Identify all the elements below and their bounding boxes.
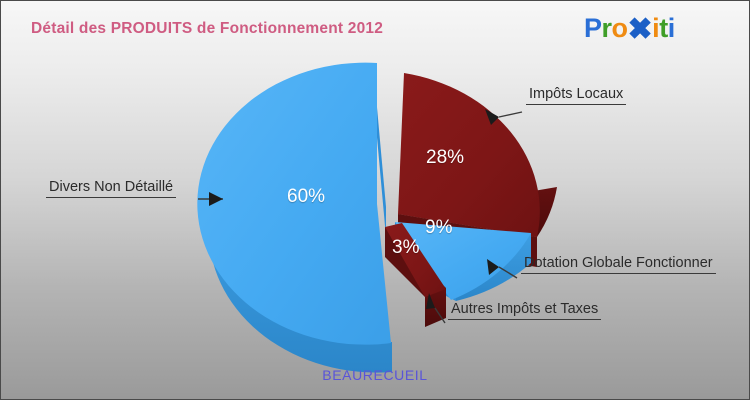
city-name-label: BEAURECUEIL xyxy=(1,367,749,383)
slice-value-autres-impots-et-taxes: 3% xyxy=(392,237,419,259)
slice-value-dotation-globale: 9% xyxy=(425,217,452,239)
callout-label-autres-impots-et-taxes[interactable]: Autres Impôts et Taxes xyxy=(448,301,601,320)
slice-value-impots-locaux: 28% xyxy=(426,147,464,169)
callout-label-impots-locaux[interactable]: Impôts Locaux xyxy=(526,86,626,105)
chart-window: Détail des PRODUITS de Fonctionnement 20… xyxy=(0,0,750,400)
pie-chart xyxy=(1,1,750,400)
callout-text-impots-locaux: Impôts Locaux xyxy=(526,86,626,105)
slice-value-divers-non-detaille: 60% xyxy=(287,186,325,208)
callout-label-divers-non-detaille[interactable]: Divers Non Détaillé xyxy=(46,179,176,198)
pie-slice-divers-non-detaille[interactable] xyxy=(197,63,392,373)
callout-text-dotation-globale: Dotation Globale Fonctionner xyxy=(521,255,716,274)
callout-label-dotation-globale[interactable]: Dotation Globale Fonctionner xyxy=(521,255,716,274)
callout-text-autres-impots-et-taxes: Autres Impôts et Taxes xyxy=(448,301,601,320)
callout-text-divers-non-detaille: Divers Non Détaillé xyxy=(46,179,176,198)
